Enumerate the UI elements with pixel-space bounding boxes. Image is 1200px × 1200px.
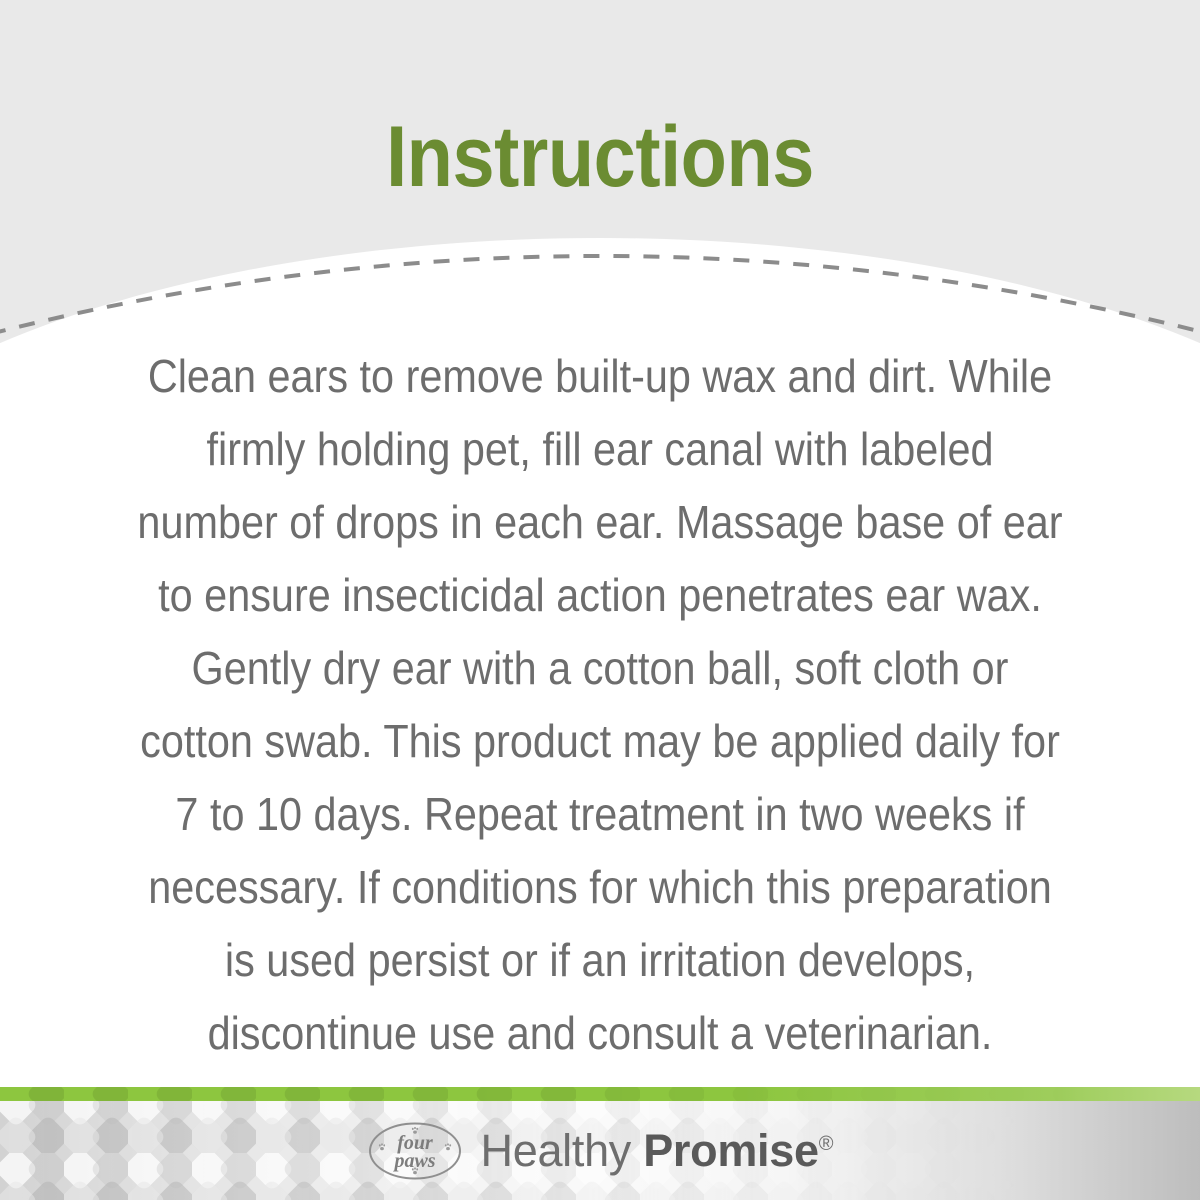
instructions-line: cotton swab. This product may be applied… xyxy=(140,715,1060,767)
footer-bar: four paws Healthy Promise® xyxy=(0,1087,1200,1200)
instructions-line: is used persist or if an irritation deve… xyxy=(225,934,975,986)
instructions-line: necessary. If conditions for which this … xyxy=(148,861,1052,913)
instructions-panel: Instructions Clean ears to remove built-… xyxy=(0,0,1200,1200)
four-paws-logo: four paws xyxy=(367,1120,463,1182)
brand-wordmark: Healthy Promise® xyxy=(481,1128,834,1173)
page-title: Instructions xyxy=(72,114,1128,200)
instructions-line: discontinue use and consult a veterinari… xyxy=(208,1007,993,1059)
instructions-line: Gently dry ear with a cotton ball, soft … xyxy=(192,642,1009,694)
brand-word-healthy: Healthy xyxy=(481,1125,631,1176)
four-paws-logo-line2: paws xyxy=(392,1150,435,1172)
instructions-line: 7 to 10 days. Repeat treatment in two we… xyxy=(175,788,1024,840)
instructions-body: Clean ears to remove built-up wax and di… xyxy=(123,340,1077,1070)
instructions-line: Clean ears to remove built-up wax and di… xyxy=(148,350,1052,402)
brand-word-promise: Promise xyxy=(643,1125,818,1176)
instructions-line: number of drops in each ear. Massage bas… xyxy=(137,496,1062,548)
footer-accent-bar-pattern xyxy=(0,1087,1200,1101)
footer-brand-lockup: four paws Healthy Promise® xyxy=(0,1101,1200,1200)
registered-trademark-icon: ® xyxy=(819,1133,834,1155)
instructions-line: firmly holding pet, fill ear canal with … xyxy=(206,423,993,475)
instructions-line: to ensure insecticidal action penetrates… xyxy=(158,569,1042,621)
